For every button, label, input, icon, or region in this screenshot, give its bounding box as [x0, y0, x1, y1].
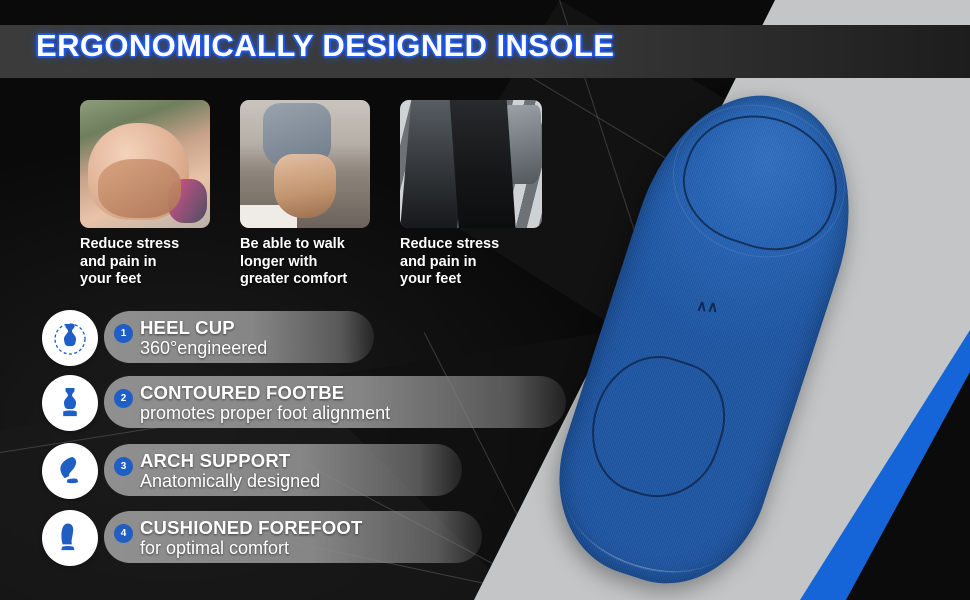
caption-line: Reduce stress — [80, 236, 220, 254]
feature-text: CONTOURED FOOTBE promotes proper foot al… — [140, 383, 390, 424]
photo-accent — [504, 105, 541, 184]
caption-line: longer with — [240, 254, 395, 272]
benefit-caption-1: Reduce stress and pain in your feet — [80, 236, 220, 289]
feature-subtitle: 360°engineered — [140, 338, 267, 359]
feature-subtitle: promotes proper foot alignment — [140, 403, 390, 424]
caption-line: your feet — [400, 271, 550, 289]
feature-subtitle: for optimal comfort — [140, 538, 363, 559]
feature-item-heel-cup[interactable]: 1 HEEL CUP 360°engineered — [42, 310, 332, 364]
feature-number-badge: 2 — [114, 389, 133, 408]
photo-accent — [168, 179, 207, 223]
feature-text: HEEL CUP 360°engineered — [140, 318, 267, 359]
insole-logo-emboss: ∧∧ — [696, 297, 727, 321]
feature-title: CONTOURED FOOTBE — [140, 383, 390, 403]
feature-item-arch-support[interactable]: 3 ARCH SUPPORT Anatomically designed — [42, 443, 417, 497]
feature-item-contoured-footbed[interactable]: 2 CONTOURED FOOTBE promotes proper foot … — [42, 375, 522, 429]
benefit-photo-2 — [240, 100, 370, 228]
caption-line: Be able to walk — [240, 236, 395, 254]
feature-subtitle: Anatomically designed — [140, 471, 320, 492]
feature-text: ARCH SUPPORT Anatomically designed — [140, 451, 320, 492]
feature-number-badge: 3 — [114, 457, 133, 476]
cushioned-forefoot-icon — [42, 510, 98, 566]
arch-support-icon — [42, 443, 98, 499]
feature-title: ARCH SUPPORT — [140, 451, 320, 471]
feature-number-badge: 1 — [114, 324, 133, 343]
feature-number-badge: 4 — [114, 524, 133, 543]
feature-text: CUSHIONED FOREFOOT for optimal comfort — [140, 518, 363, 559]
caption-line: greater comfort — [240, 271, 395, 289]
infographic-canvas: ∧∧ ERGONOMICALLY DESIGNED INSOLE Reduce … — [0, 0, 970, 600]
benefit-photo-3 — [400, 100, 542, 228]
benefit-photo-1 — [80, 100, 210, 228]
caption-line: your feet — [80, 271, 220, 289]
caption-line: and pain in — [400, 254, 550, 272]
benefit-caption-3: Reduce stress and pain in your feet — [400, 236, 550, 289]
contoured-footbed-icon — [42, 375, 98, 431]
page-title: ERGONOMICALLY DESIGNED INSOLE — [36, 28, 614, 64]
caption-line: Reduce stress — [400, 236, 550, 254]
heel-cup-icon — [42, 310, 98, 366]
feature-title: HEEL CUP — [140, 318, 267, 338]
benefit-caption-2: Be able to walk longer with greater comf… — [240, 236, 395, 289]
caption-line: and pain in — [80, 254, 220, 272]
feature-item-cushioned-forefoot[interactable]: 4 CUSHIONED FOREFOOT for optimal comfort — [42, 510, 437, 564]
photo-accent — [240, 205, 297, 228]
feature-title: CUSHIONED FOREFOOT — [140, 518, 363, 538]
